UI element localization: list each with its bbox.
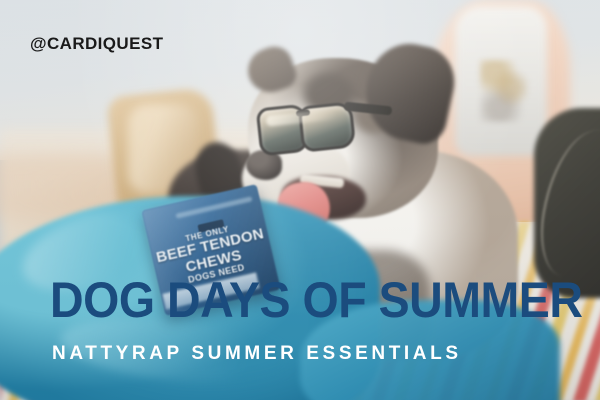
headline-title: DOG DAYS OF SUMMER: [50, 275, 515, 325]
tank-top-print: [480, 60, 528, 122]
promo-graphic: THE ONLY BEEF TENDON CHEWS DOGS NEED @CA…: [0, 0, 600, 400]
subheadline: NATTYRAP SUMMER ESSENTIALS: [52, 343, 552, 365]
brand-handle: @CARDIQUEST: [30, 34, 163, 54]
